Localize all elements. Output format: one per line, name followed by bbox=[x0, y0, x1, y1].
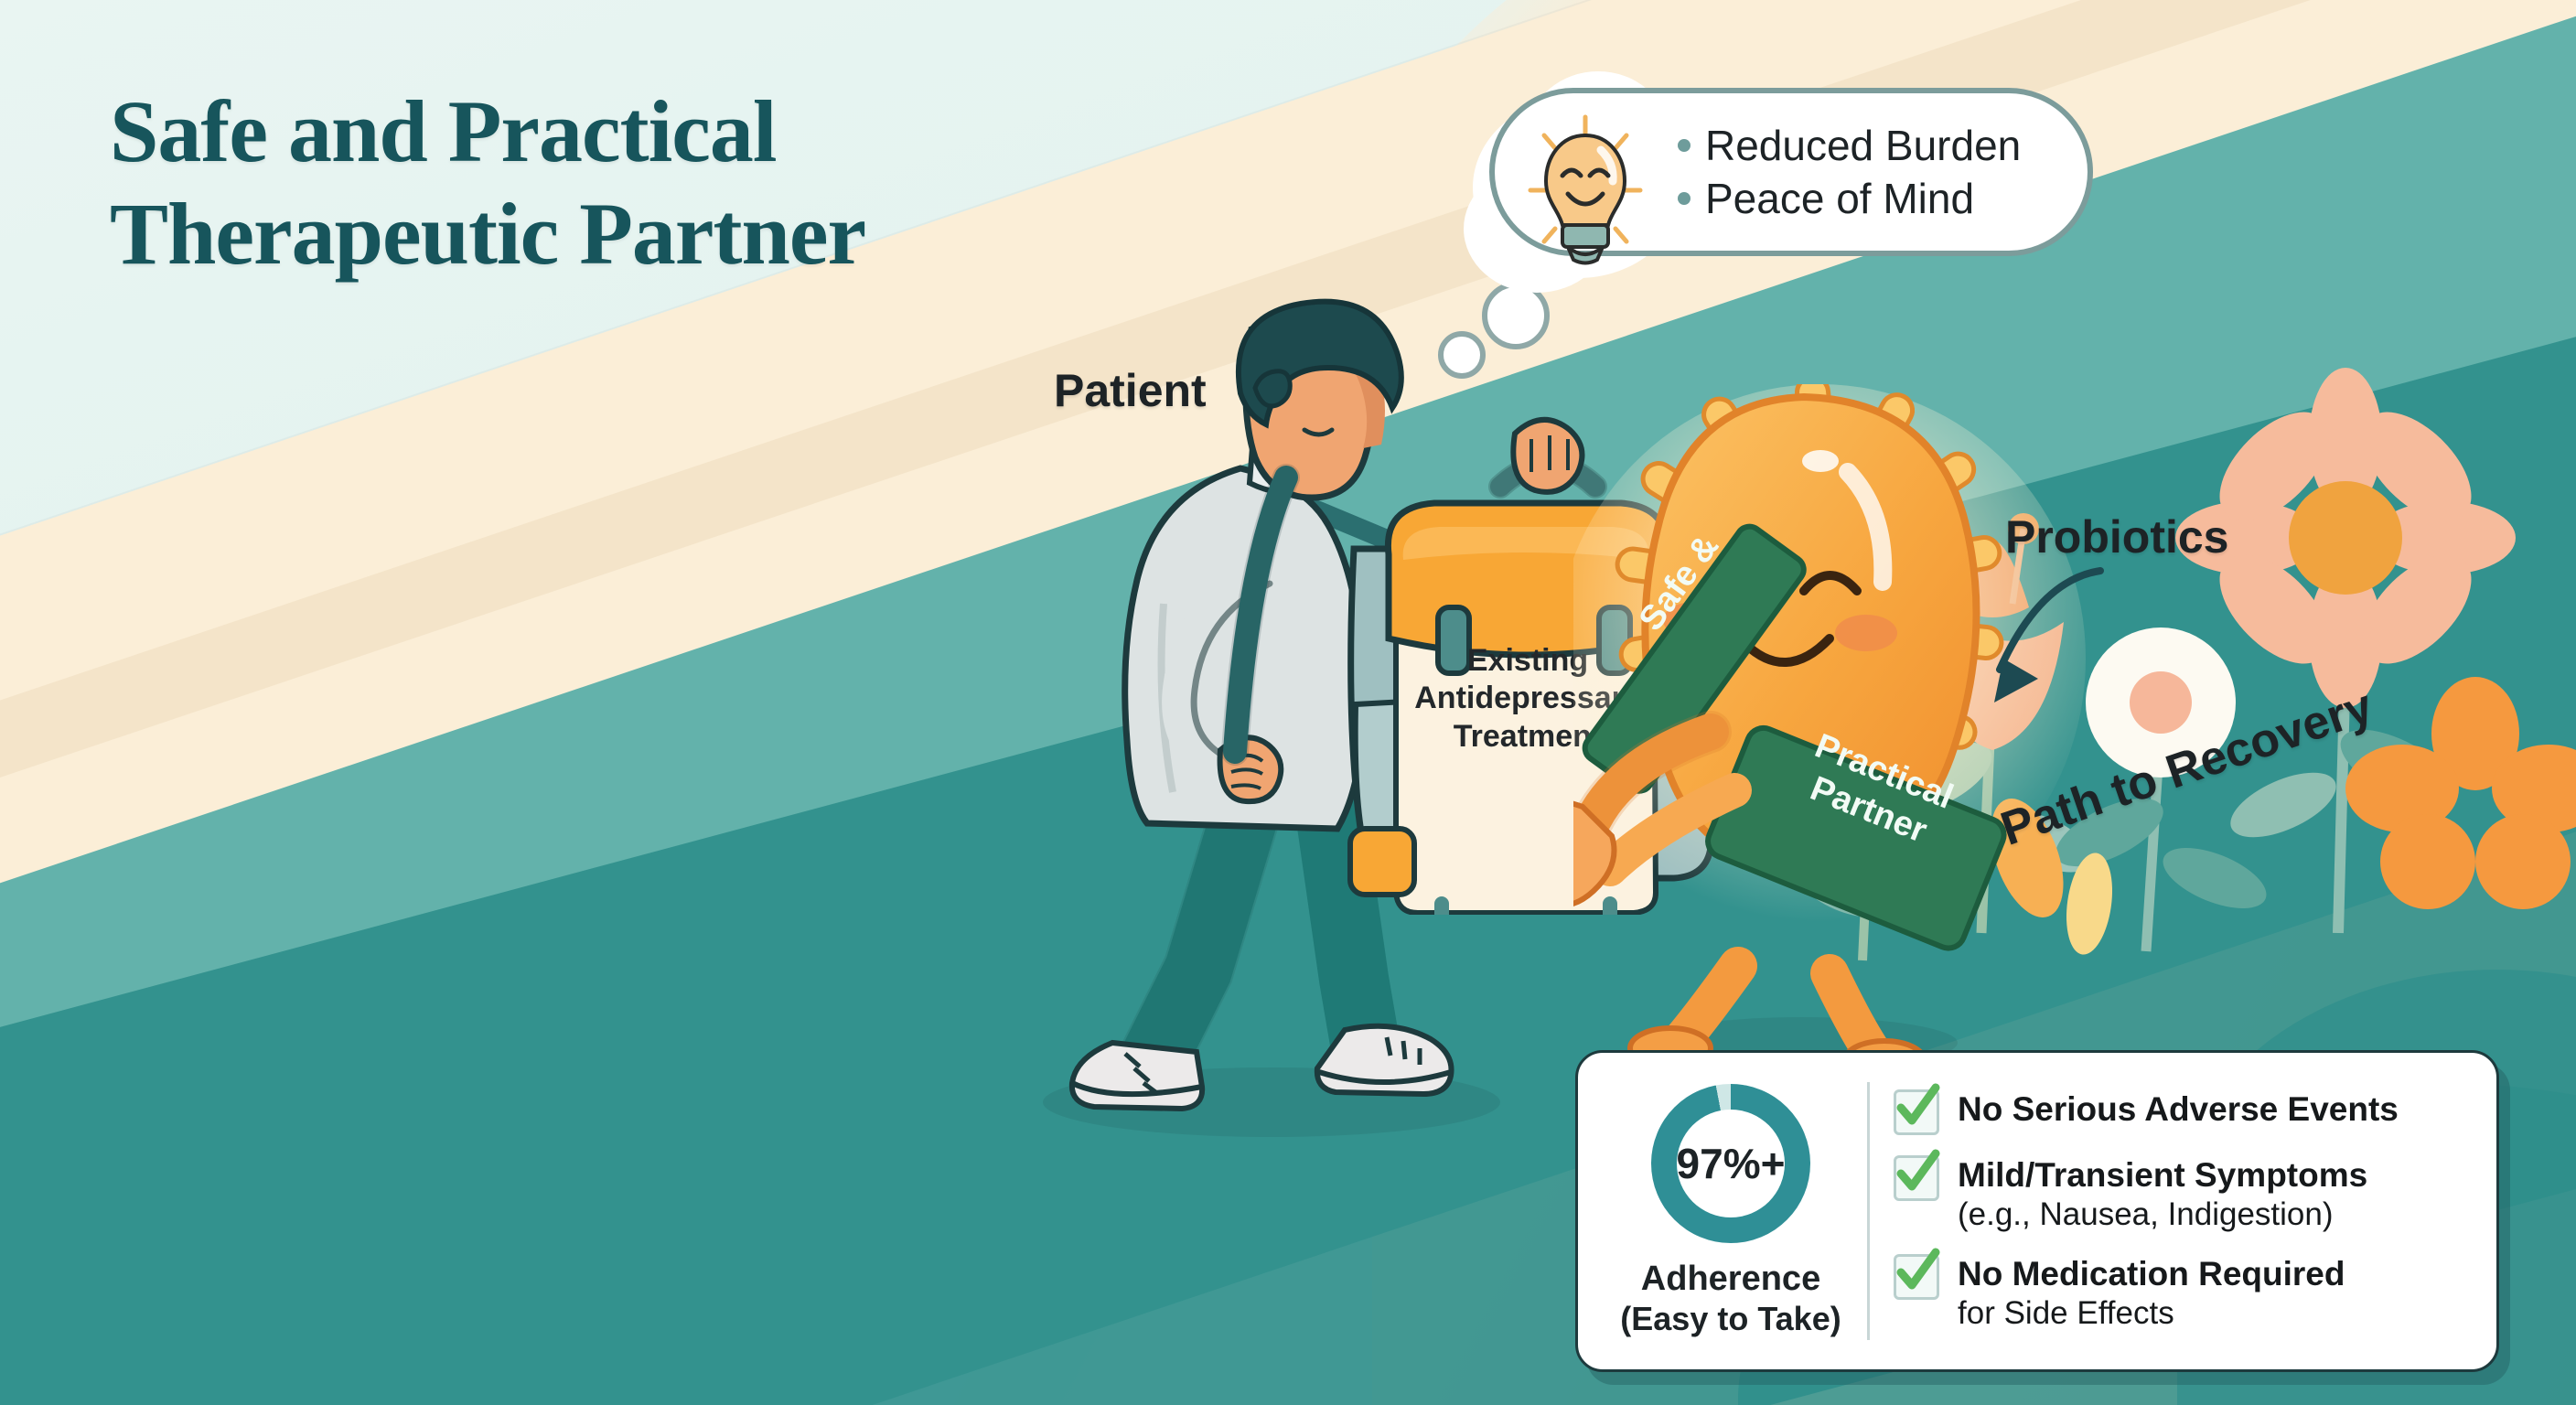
probiotic-mascot: Safe & Practical Partner bbox=[1573, 384, 2086, 1079]
adherence-donut-group: 97%+ Adherence (Easy to Take) bbox=[1602, 1084, 1860, 1338]
checklist-subtext: (e.g., Nausea, Indigestion) bbox=[1958, 1196, 2367, 1234]
patient-label: Patient bbox=[1054, 364, 1207, 417]
lightbulb-icon bbox=[1526, 112, 1645, 267]
adherence-caption: Adherence bbox=[1641, 1260, 1820, 1300]
bullet-icon bbox=[1678, 192, 1690, 205]
adherence-subcaption: (Easy to Take) bbox=[1620, 1300, 1841, 1338]
safety-checklist: No Serious Adverse Events Mild/Transient… bbox=[1894, 1089, 2473, 1334]
safety-summary-card: 97%+ Adherence (Easy to Take) No Serious… bbox=[1575, 1050, 2499, 1372]
benefit-item-2: Peace of Mind bbox=[1678, 174, 2021, 223]
checklist-item: No Serious Adverse Events bbox=[1894, 1089, 2473, 1135]
checkmark-icon bbox=[1894, 1089, 1939, 1135]
checklist-label: No Serious Adverse Events bbox=[1958, 1089, 2399, 1130]
checklist-text: No Serious Adverse Events bbox=[1958, 1090, 2399, 1128]
page-title-line-2: Therapeutic Partner bbox=[110, 183, 1207, 285]
checklist-text: Mild/Transient Symptoms bbox=[1958, 1156, 2367, 1194]
probiotics-pointer-arrow bbox=[1930, 558, 2131, 727]
probiotics-label: Probiotics bbox=[2005, 510, 2228, 563]
page-title: Safe and Practical Therapeutic Partner bbox=[110, 80, 1207, 286]
checkmark-icon bbox=[1894, 1155, 1939, 1201]
checklist-subtext: for Side Effects bbox=[1958, 1294, 2345, 1333]
bullet-icon bbox=[1678, 139, 1690, 152]
benefit-label-2: Peace of Mind bbox=[1705, 174, 1974, 223]
adherence-value: 97%+ bbox=[1651, 1084, 1810, 1243]
infographic-canvas: Safe and Practical Therapeutic Partner R… bbox=[0, 0, 2576, 1405]
checklist-item: Mild/Transient Symptoms (e.g., Nausea, I… bbox=[1894, 1155, 2473, 1234]
checkmark-icon bbox=[1894, 1254, 1939, 1300]
checklist-text: No Medication Required bbox=[1958, 1255, 2345, 1292]
checklist-item: No Medication Required for Side Effects bbox=[1894, 1254, 2473, 1333]
card-divider bbox=[1867, 1082, 1870, 1340]
checklist-label: Mild/Transient Symptoms (e.g., Nausea, I… bbox=[1958, 1155, 2367, 1234]
page-title-line-1: Safe and Practical bbox=[110, 80, 1207, 183]
benefit-label-1: Reduced Burden bbox=[1705, 121, 2021, 170]
checklist-label: No Medication Required for Side Effects bbox=[1958, 1254, 2345, 1333]
benefit-item-1: Reduced Burden bbox=[1678, 121, 2021, 170]
